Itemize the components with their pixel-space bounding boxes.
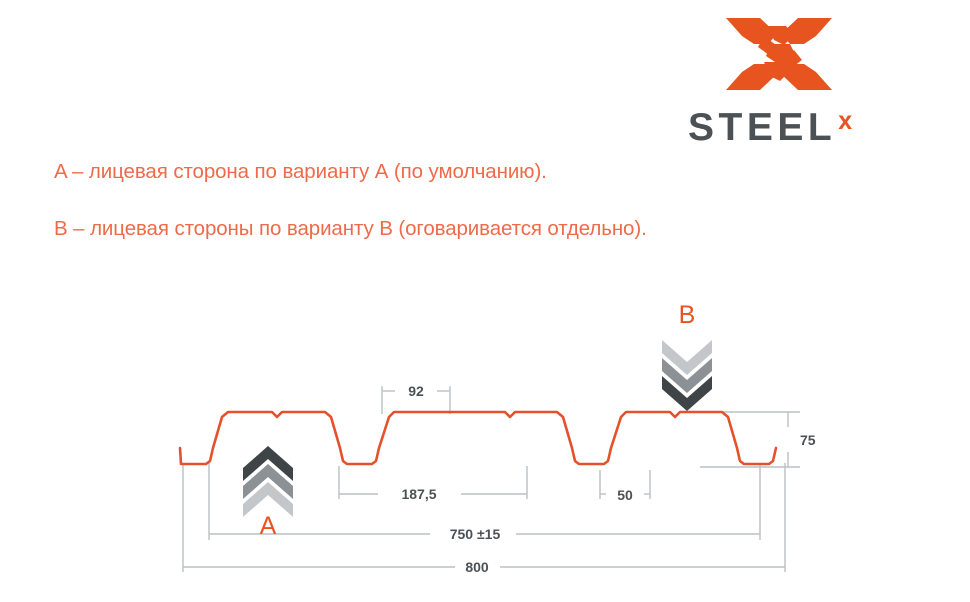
page-root: STEEL x A – лицевая сторона по варианту … <box>0 0 970 597</box>
dim-label-75: 75 <box>800 432 816 448</box>
dim-label-187-5: 187,5 <box>401 486 436 502</box>
marker-a: A <box>238 440 298 545</box>
marker-a-label: A <box>238 512 298 541</box>
marker-b-label: B <box>657 301 717 330</box>
profile-technical-drawing: 92 187,5 50 750 ±15 800 75 <box>0 0 970 597</box>
dim-label-50: 50 <box>617 487 633 503</box>
marker-b: B <box>657 305 717 410</box>
dim-label-750: 750 ±15 <box>450 526 501 542</box>
dim-label-800: 800 <box>465 559 489 575</box>
dim-label-92: 92 <box>408 383 424 399</box>
